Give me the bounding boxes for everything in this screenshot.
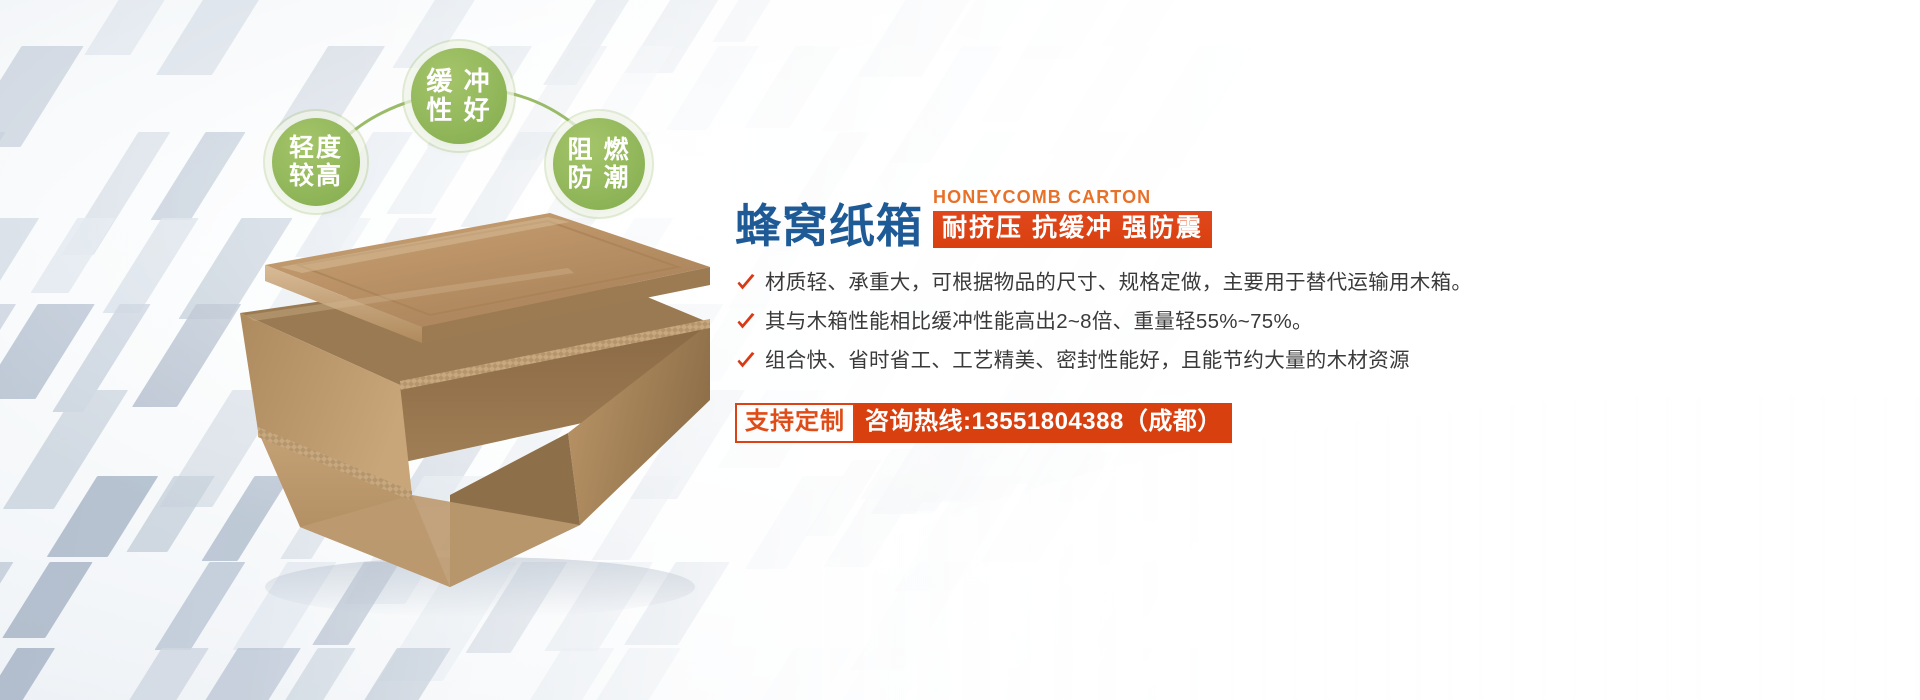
background-stripe (1758, 484, 1853, 551)
background-stripe (1732, 452, 1826, 518)
feature-bubble-cushion-line2: 性 好 (426, 96, 491, 125)
background-stripe (850, 562, 972, 670)
heading-row: 蜂窝纸箱 HONEYCOMB CARTON 耐挤压 抗缓冲 强防震 (735, 188, 1855, 249)
background-stripe (955, 648, 1089, 700)
feature-bubble-light-line1: 轻度 (289, 134, 343, 162)
hotline-city: （成都） (1124, 408, 1222, 437)
background-stripe (1124, 648, 1230, 700)
background-stripe (0, 304, 16, 423)
background-stripe (889, 46, 1003, 163)
background-stripe (905, 436, 983, 511)
hotline-number[interactable]: 13551804388 (972, 408, 1124, 437)
background-stripe (1850, 478, 1920, 565)
background-stripe (52, 304, 151, 412)
background-stripe (1101, 0, 1200, 46)
copy-block: 蜂窝纸箱 HONEYCOMB CARTON 耐挤压 抗缓冲 强防震 材质轻、承重… (735, 188, 1855, 443)
background-stripe (821, 46, 913, 131)
background-stripe (871, 440, 961, 514)
feature-bubble-cushion-line1: 缓 冲 (426, 67, 491, 96)
background-stripe (1801, 471, 1871, 544)
background-stripe (1792, 477, 1864, 540)
background-stripe (801, 648, 937, 700)
background-stripe (0, 304, 94, 399)
background-stripe (1225, 459, 1292, 528)
hotline-bar[interactable]: 咨询热线:13551804388（成都） (855, 403, 1232, 443)
background-stripe (1462, 435, 1546, 508)
promo-banner: 轻度 较高 缓 冲 性 好 阻 燃 防 潮 蜂窝纸箱 HONEYCOMB CAR… (0, 0, 1920, 700)
background-stripe (981, 476, 1092, 562)
background-stripe (1048, 46, 1151, 154)
background-stripe (1056, 452, 1114, 502)
background-stripe (47, 476, 158, 557)
background-stripe (110, 648, 208, 700)
background-stripe (490, 648, 615, 700)
background-stripe (805, 460, 882, 536)
list-item-text: 材质轻、承重大，可根据物品的尺寸、规格定做，主要用于替代运输用木箱。 (765, 270, 1472, 296)
background-stripe (858, 0, 994, 77)
check-icon (735, 351, 757, 373)
check-icon (735, 312, 757, 334)
hotline-label: 咨询热线: (865, 408, 972, 437)
check-icon (735, 273, 757, 295)
page-title: 蜂窝纸箱 (735, 203, 923, 249)
background-stripe (888, 648, 979, 700)
background-stripe (1277, 456, 1372, 522)
list-item: 其与木箱性能相比缓冲性能高出2~8倍、重量轻55%~75%。 (735, 309, 1855, 335)
background-stripe (861, 449, 917, 499)
list-item: 材质轻、承重大，可根据物品的尺寸、规格定做，主要用于替代运输用木箱。 (735, 270, 1855, 296)
background-stripe (1227, 458, 1291, 514)
background-stripe (1575, 435, 1668, 500)
background-stripe (944, 0, 1051, 51)
background-stripe (1645, 464, 1730, 535)
background-stripe (1327, 451, 1415, 511)
background-stripe (3, 390, 129, 509)
feature-bubble-group: 轻度 较高 缓 冲 性 好 阻 燃 防 潮 (0, 0, 760, 260)
bubble-connector-arc (0, 0, 760, 260)
background-stripe (980, 46, 1065, 122)
feature-bubble-light[interactable]: 轻度 较高 (272, 118, 360, 206)
slogan-badge: 耐挤压 抗缓冲 强防震 (933, 211, 1212, 248)
background-stripe (726, 648, 853, 700)
background-stripe (1122, 46, 1257, 168)
heading-secondary: HONEYCOMB CARTON 耐挤压 抗缓冲 强防震 (933, 188, 1212, 249)
background-stripe (1125, 476, 1235, 601)
background-stripe (343, 648, 451, 700)
background-stripe (1607, 475, 1667, 527)
background-stripe (922, 437, 1011, 502)
feature-bubble-fireproof[interactable]: 阻 燃 防 潮 (553, 118, 645, 210)
background-stripe (1716, 490, 1785, 550)
list-item-text: 其与木箱性能相比缓冲性能高出2~8倍、重量轻55%~75%。 (765, 309, 1313, 335)
list-item: 组合快、省时省工、工艺精美、密封性能好，且能节约大量的木材资源 (735, 348, 1855, 374)
background-stripe (1429, 439, 1507, 496)
contact-bar: 支持定制 咨询热线:13551804388（成都） (735, 403, 1232, 443)
background-stripe (1383, 474, 1460, 524)
background-stripe (0, 648, 55, 700)
background-stripe (266, 648, 356, 700)
feature-bubble-light-line2: 较高 (289, 162, 343, 190)
background-stripe (905, 442, 977, 514)
custom-order-badge: 支持定制 (735, 403, 855, 443)
feature-bullet-list: 材质轻、承重大，可根据物品的尺寸、规格定做，主要用于替代运输用木箱。 其与木箱性… (735, 270, 1855, 375)
background-stripe (1169, 450, 1229, 503)
background-stripe (894, 476, 1022, 591)
background-stripe (1528, 473, 1631, 555)
feature-bubble-fireproof-line2: 防 潮 (568, 164, 631, 192)
background-stripe (1019, 0, 1133, 59)
background-stripe (824, 476, 926, 567)
background-stripe (1714, 456, 1795, 521)
list-item-text: 组合快、省时省工、工艺精美、密封性能好，且能节约大量的木材资源 (765, 348, 1410, 374)
background-stripe (0, 562, 14, 653)
background-stripe (1115, 433, 1223, 521)
background-stripe (1641, 484, 1740, 563)
background-stripe (579, 648, 681, 700)
background-stripe (1531, 441, 1612, 518)
feature-bubble-fireproof-line1: 阻 燃 (568, 136, 631, 164)
background-stripe (1544, 443, 1626, 514)
page-subtitle-en: HONEYCOMB CARTON (933, 188, 1212, 206)
background-stripe (1640, 498, 1709, 568)
background-stripe (2, 562, 92, 638)
background-stripe (1173, 458, 1272, 542)
background-stripe (950, 458, 1019, 517)
background-stripe (1034, 648, 1153, 700)
feature-bubble-cushion[interactable]: 缓 冲 性 好 (411, 48, 507, 144)
background-stripe (1058, 476, 1164, 565)
background-stripe (1477, 452, 1583, 537)
background-stripe (1091, 562, 1179, 647)
background-stripe (190, 648, 301, 700)
